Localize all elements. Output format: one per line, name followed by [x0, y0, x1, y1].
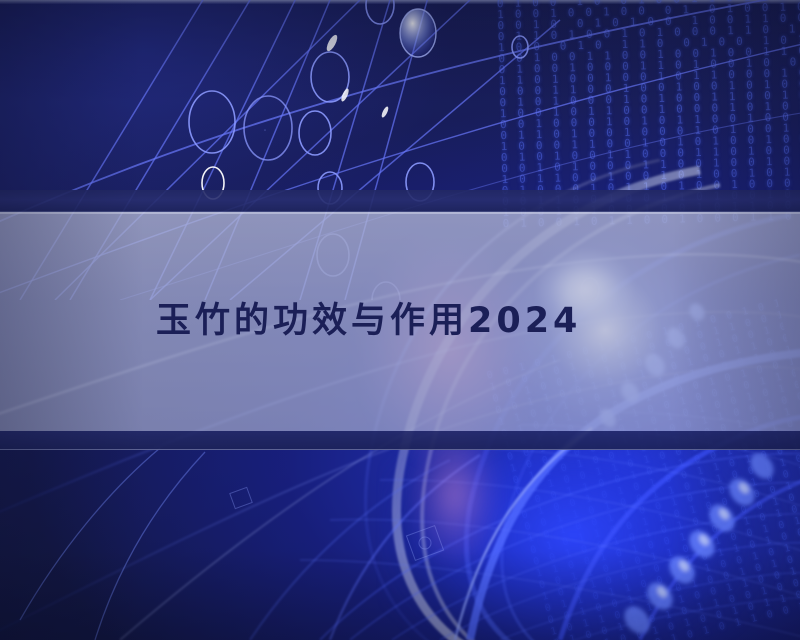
band-dark-top [0, 190, 800, 212]
page-title: 玉竹的功效与作用2024 [156, 304, 581, 339]
banner-image: 0 1 0 0 1 0 0 1 0 0 1 1 0 1 0 0 0 1 1 0 … [0, 0, 800, 640]
title-container: 玉竹的功效与作用2024 [0, 212, 800, 431]
band-dark-bottom [0, 431, 800, 450]
